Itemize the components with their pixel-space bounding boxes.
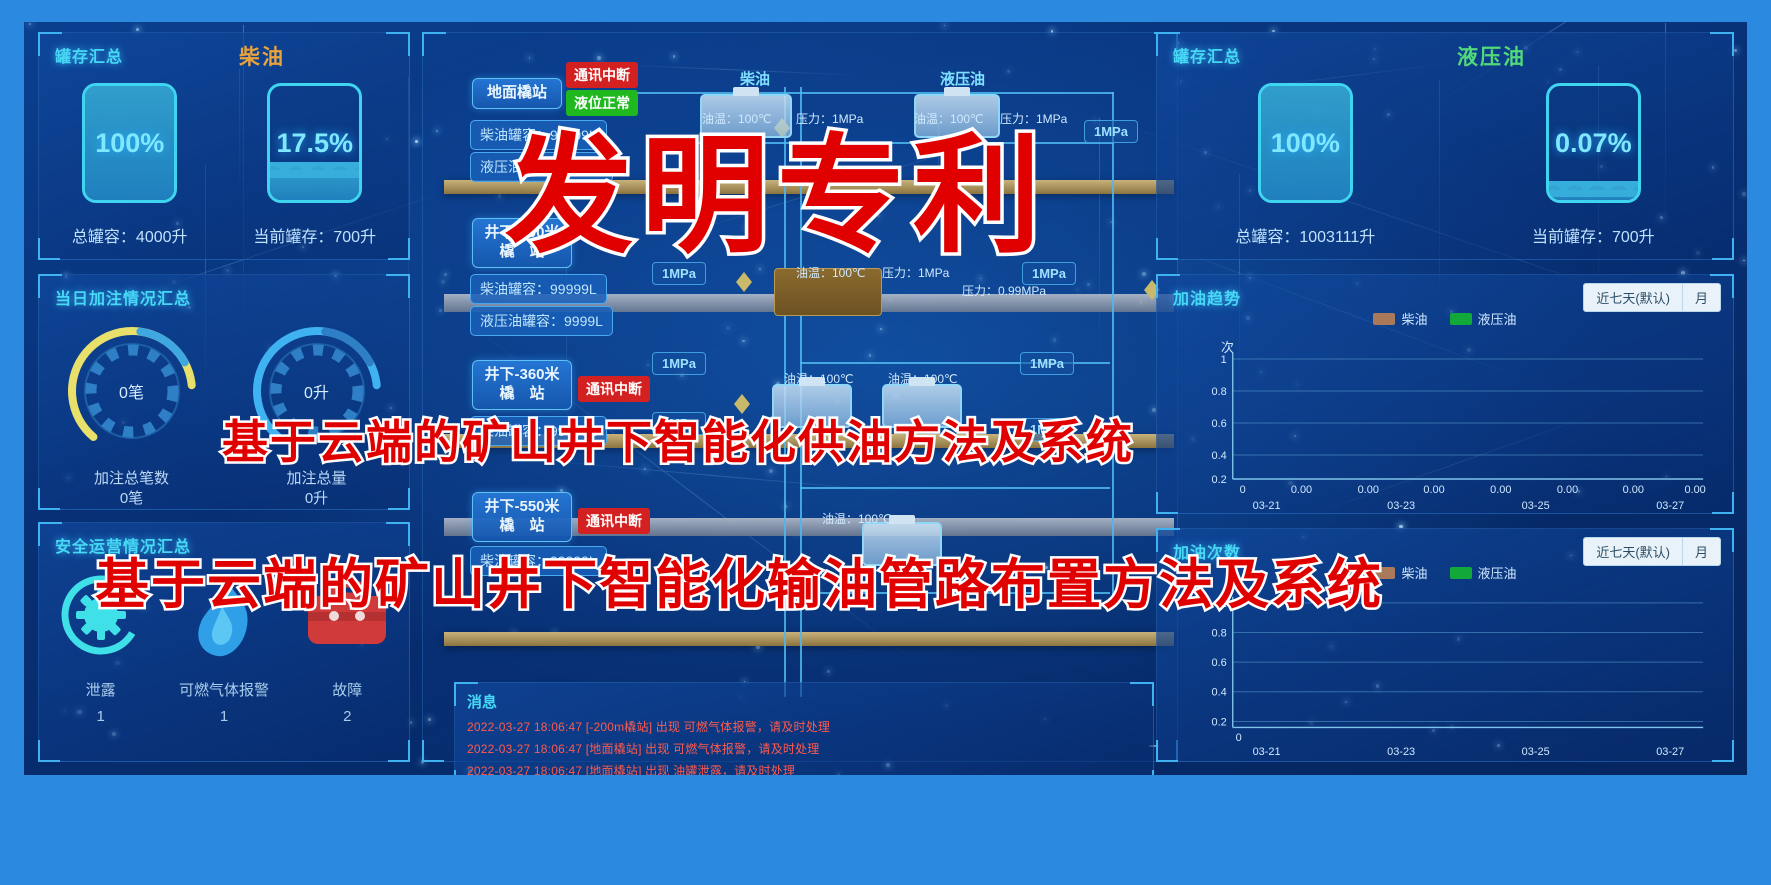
svg-text:1: 1 bbox=[1221, 354, 1227, 366]
trend-legend-item-hydraulic[interactable]: 液压油 bbox=[1450, 309, 1517, 329]
trend-legend-label-hydraulic: 液压油 bbox=[1478, 312, 1517, 327]
station-cap-200m-diesel: 柴油罐容：99999L bbox=[470, 274, 607, 304]
panel-title-daily-refuel: 当日加注情况汇总 bbox=[55, 285, 191, 309]
safety-count-leak: 1 bbox=[96, 708, 104, 725]
trend-legend: 柴油 液压油 bbox=[1157, 309, 1733, 329]
sensor-readout-9: 油温：100℃ bbox=[888, 370, 958, 388]
svg-text:0: 0 bbox=[1240, 484, 1246, 496]
trend-plot: 1 0.8 0.6 0.4 0.2 0 0.00 0.00 0.00 0.00 … bbox=[1157, 333, 1733, 513]
station-tag-360m[interactable]: 井下-360米 橇 站 bbox=[472, 360, 572, 410]
count-range-switch[interactable]: 近七天(默认) 月 bbox=[1583, 537, 1721, 566]
svg-text:03-25: 03-25 bbox=[1522, 746, 1550, 758]
svg-text:0.00: 0.00 bbox=[1557, 484, 1578, 496]
svg-text:03-27: 03-27 bbox=[1656, 746, 1684, 758]
count-legend-label-hydraulic: 液压油 bbox=[1478, 566, 1517, 581]
sensor-readout-8: 油温：100℃ bbox=[784, 370, 854, 388]
message-line: 2022-03-27 18:06:47 [地面橇站] 出现 可燃气体报警，请及时… bbox=[467, 738, 1153, 760]
svg-text:0.00: 0.00 bbox=[1358, 484, 1379, 496]
panel-messages: 消息 2022-03-27 18:06:47 [-200m橇站] 出现 可燃气体… bbox=[454, 682, 1154, 775]
donut-value-count: 0笔 bbox=[62, 321, 202, 461]
watermark-patent-title: 发明专利 bbox=[505, 92, 1049, 277]
tank-shape-total: 100% bbox=[82, 83, 177, 203]
fuel-label-diesel: 柴油 bbox=[239, 41, 285, 71]
safety-label-gas-alarm: 可燃气体报警 bbox=[179, 679, 269, 700]
station-badge-surface-comm: 通讯中断 bbox=[566, 62, 638, 88]
donut-caption-volume: 加注总量 0升 bbox=[286, 469, 346, 510]
watermark-line-1: 基于云端的矿山井下智能化供油方法及系统 bbox=[222, 406, 1134, 472]
count-legend-label-diesel: 柴油 bbox=[1401, 566, 1427, 581]
diesel-gauge-total: 100% 总罐容：4000升 bbox=[72, 83, 188, 247]
svg-text:0.00: 0.00 bbox=[1684, 484, 1705, 496]
tank-header-hydraulic: 液压油 bbox=[940, 68, 985, 89]
count-legend-item-hydraulic[interactable]: 液压油 bbox=[1450, 563, 1517, 583]
safety-label-fault: 故障 bbox=[332, 679, 362, 700]
svg-text:0.2: 0.2 bbox=[1212, 474, 1227, 486]
frame-bottom bbox=[0, 775, 1771, 885]
right-riser-pipe bbox=[1112, 92, 1114, 597]
svg-text:03-27: 03-27 bbox=[1656, 500, 1684, 512]
count-legend-swatch-hydraulic bbox=[1450, 567, 1472, 579]
svg-text:03-23: 03-23 bbox=[1387, 746, 1415, 758]
safety-count-gas-alarm: 1 bbox=[220, 708, 228, 725]
hydraulic-gauge-total: 100% 总罐容：1003111升 bbox=[1235, 83, 1375, 247]
hydraulic-gauge-current: 0.07% 当前罐存：700升 bbox=[1532, 83, 1655, 247]
refuel-donut-count: 0笔 加注总笔数 0笔 bbox=[62, 321, 202, 510]
station-name-550m: 井下-550米 橇 站 bbox=[484, 498, 559, 534]
watermark-line-2: 基于云端的矿山井下智能化输油管路布置方法及系统 bbox=[95, 540, 1383, 619]
donut-caption-count: 加注总笔数 0笔 bbox=[94, 469, 169, 510]
station-badge-360m-comm: 通讯中断 bbox=[578, 376, 650, 402]
trend-plot-svg: 1 0.8 0.6 0.4 0.2 0 0.00 0.00 0.00 0.00 … bbox=[1157, 333, 1733, 513]
station-badge-550m-comm: 通讯中断 bbox=[578, 508, 650, 534]
tank-shape-h-current: 0.07% bbox=[1546, 83, 1641, 203]
svg-text:03-23: 03-23 bbox=[1387, 500, 1415, 512]
strata-band-3 bbox=[444, 632, 1174, 646]
tank-shape-h-total: 100% bbox=[1258, 83, 1353, 203]
pressure-tag-5: 1MPa bbox=[1020, 352, 1074, 375]
trend-legend-item-diesel[interactable]: 柴油 bbox=[1373, 309, 1427, 329]
svg-text:0.00: 0.00 bbox=[1623, 484, 1644, 496]
pressure-tag-4: 1MPa bbox=[652, 352, 706, 375]
svg-text:03-21: 03-21 bbox=[1253, 500, 1281, 512]
trend-legend-swatch-diesel bbox=[1373, 313, 1395, 325]
svg-text:0.8: 0.8 bbox=[1212, 386, 1227, 398]
message-line: 2022-03-27 18:06:47 [-200m橇站] 出现 可燃气体报警，… bbox=[467, 716, 1153, 738]
svg-text:0.4: 0.4 bbox=[1212, 687, 1227, 699]
panel-title-refuel-trend: 加油趋势 bbox=[1173, 285, 1241, 309]
frame-top bbox=[0, 0, 1771, 22]
trend-range-month[interactable]: 月 bbox=[1682, 284, 1720, 311]
hydraulic-tank-row: 100% 总罐容：1003111升 0.07% 当前罐存：700升 bbox=[1157, 83, 1733, 247]
tank-header-diesel: 柴油 bbox=[740, 68, 770, 89]
message-line: 2022-03-27 18:06:47 [地面橇站] 出现 油罐泄露，请及时处理 bbox=[467, 760, 1153, 775]
trend-legend-label-diesel: 柴油 bbox=[1401, 312, 1427, 327]
pressure-tag-1: 1MPa bbox=[1084, 120, 1138, 143]
count-range-month[interactable]: 月 bbox=[1682, 538, 1720, 565]
donut-caption-count-l2: 0笔 bbox=[94, 489, 169, 509]
svg-text:0.00: 0.00 bbox=[1291, 484, 1312, 496]
svg-text:0.6: 0.6 bbox=[1212, 657, 1227, 669]
tank-caption-current: 当前罐存：700升 bbox=[253, 223, 376, 247]
tank-caption-h-current: 当前罐存：700升 bbox=[1532, 223, 1655, 247]
diesel-tank-row: 100% 总罐容：4000升 17.5% 当前罐存：700升 bbox=[39, 83, 409, 247]
svg-text:0.00: 0.00 bbox=[1423, 484, 1444, 496]
tank-pct-current: 17.5% bbox=[270, 86, 359, 200]
donut-caption-volume-l2: 0升 bbox=[286, 489, 346, 509]
svg-text:0.00: 0.00 bbox=[1490, 484, 1511, 496]
frame-right bbox=[1747, 0, 1771, 885]
trend-range-switch[interactable]: 近七天(默认) 月 bbox=[1583, 283, 1721, 312]
panel-title-diesel-stock: 罐存汇总 bbox=[55, 43, 123, 67]
safety-count-fault: 2 bbox=[343, 708, 351, 725]
station-name-360m: 井下-360米 橇 站 bbox=[484, 366, 559, 402]
panel-refuel-trend: 加油趋势 近七天(默认) 月 柴油 液压油 次 bbox=[1156, 274, 1734, 514]
screen: 罐存汇总 柴油 100% 总罐容：4000升 17.5% 当前罐存：700升 bbox=[0, 0, 1771, 885]
donut-caption-count-l1: 加注总笔数 bbox=[94, 469, 169, 489]
count-range-week[interactable]: 近七天(默认) bbox=[1584, 538, 1682, 565]
diesel-gauge-current: 17.5% 当前罐存：700升 bbox=[253, 83, 376, 247]
safety-label-leak: 泄露 bbox=[86, 679, 116, 700]
svg-text:03-21: 03-21 bbox=[1253, 746, 1281, 758]
panel-title-hydraulic-stock: 罐存汇总 bbox=[1173, 43, 1241, 67]
panel-title-messages: 消息 bbox=[467, 691, 1153, 712]
panel-daily-refuel: 当日加注情况汇总 0笔 bbox=[38, 274, 410, 510]
fuel-label-hydraulic: 液压油 bbox=[1457, 41, 1526, 71]
tank-caption-total: 总罐容：4000升 bbox=[72, 223, 188, 247]
svg-text:0.2: 0.2 bbox=[1212, 716, 1227, 728]
donut-caption-volume-l1: 加注总量 bbox=[286, 469, 346, 489]
trend-legend-swatch-hydraulic bbox=[1450, 313, 1472, 325]
sensor-readout-10: 油温：100℃ bbox=[822, 510, 892, 528]
level-360-pipe bbox=[800, 487, 1110, 489]
svg-text:0.8: 0.8 bbox=[1212, 627, 1227, 639]
panel-hydraulic-stock: 罐存汇总 液压油 100% 总罐容：1003111升 0.07% 当前罐存：70… bbox=[1156, 32, 1734, 260]
svg-text:0.4: 0.4 bbox=[1212, 450, 1227, 462]
tank-pct-h-current: 0.07% bbox=[1549, 86, 1638, 200]
frame-left bbox=[0, 0, 24, 885]
donut-shape-count: 0笔 bbox=[62, 321, 202, 461]
tank-caption-h-total: 总罐容：1003111升 bbox=[1235, 223, 1375, 247]
tank-pct-total: 100% bbox=[85, 86, 174, 200]
svg-text:03-25: 03-25 bbox=[1522, 500, 1550, 512]
trend-range-week[interactable]: 近七天(默认) bbox=[1584, 284, 1682, 311]
tank-shape-current: 17.5% bbox=[267, 83, 362, 203]
svg-text:0: 0 bbox=[1236, 732, 1242, 744]
station-tag-550m[interactable]: 井下-550米 橇 站 bbox=[472, 492, 572, 542]
station-cap-200m-hydraulic: 液压油罐容：9999L bbox=[470, 306, 613, 336]
tank-pct-h-total: 100% bbox=[1261, 86, 1350, 200]
svg-text:0.6: 0.6 bbox=[1212, 418, 1227, 430]
panel-diesel-stock: 罐存汇总 柴油 100% 总罐容：4000升 17.5% 当前罐存：700升 bbox=[38, 32, 410, 260]
